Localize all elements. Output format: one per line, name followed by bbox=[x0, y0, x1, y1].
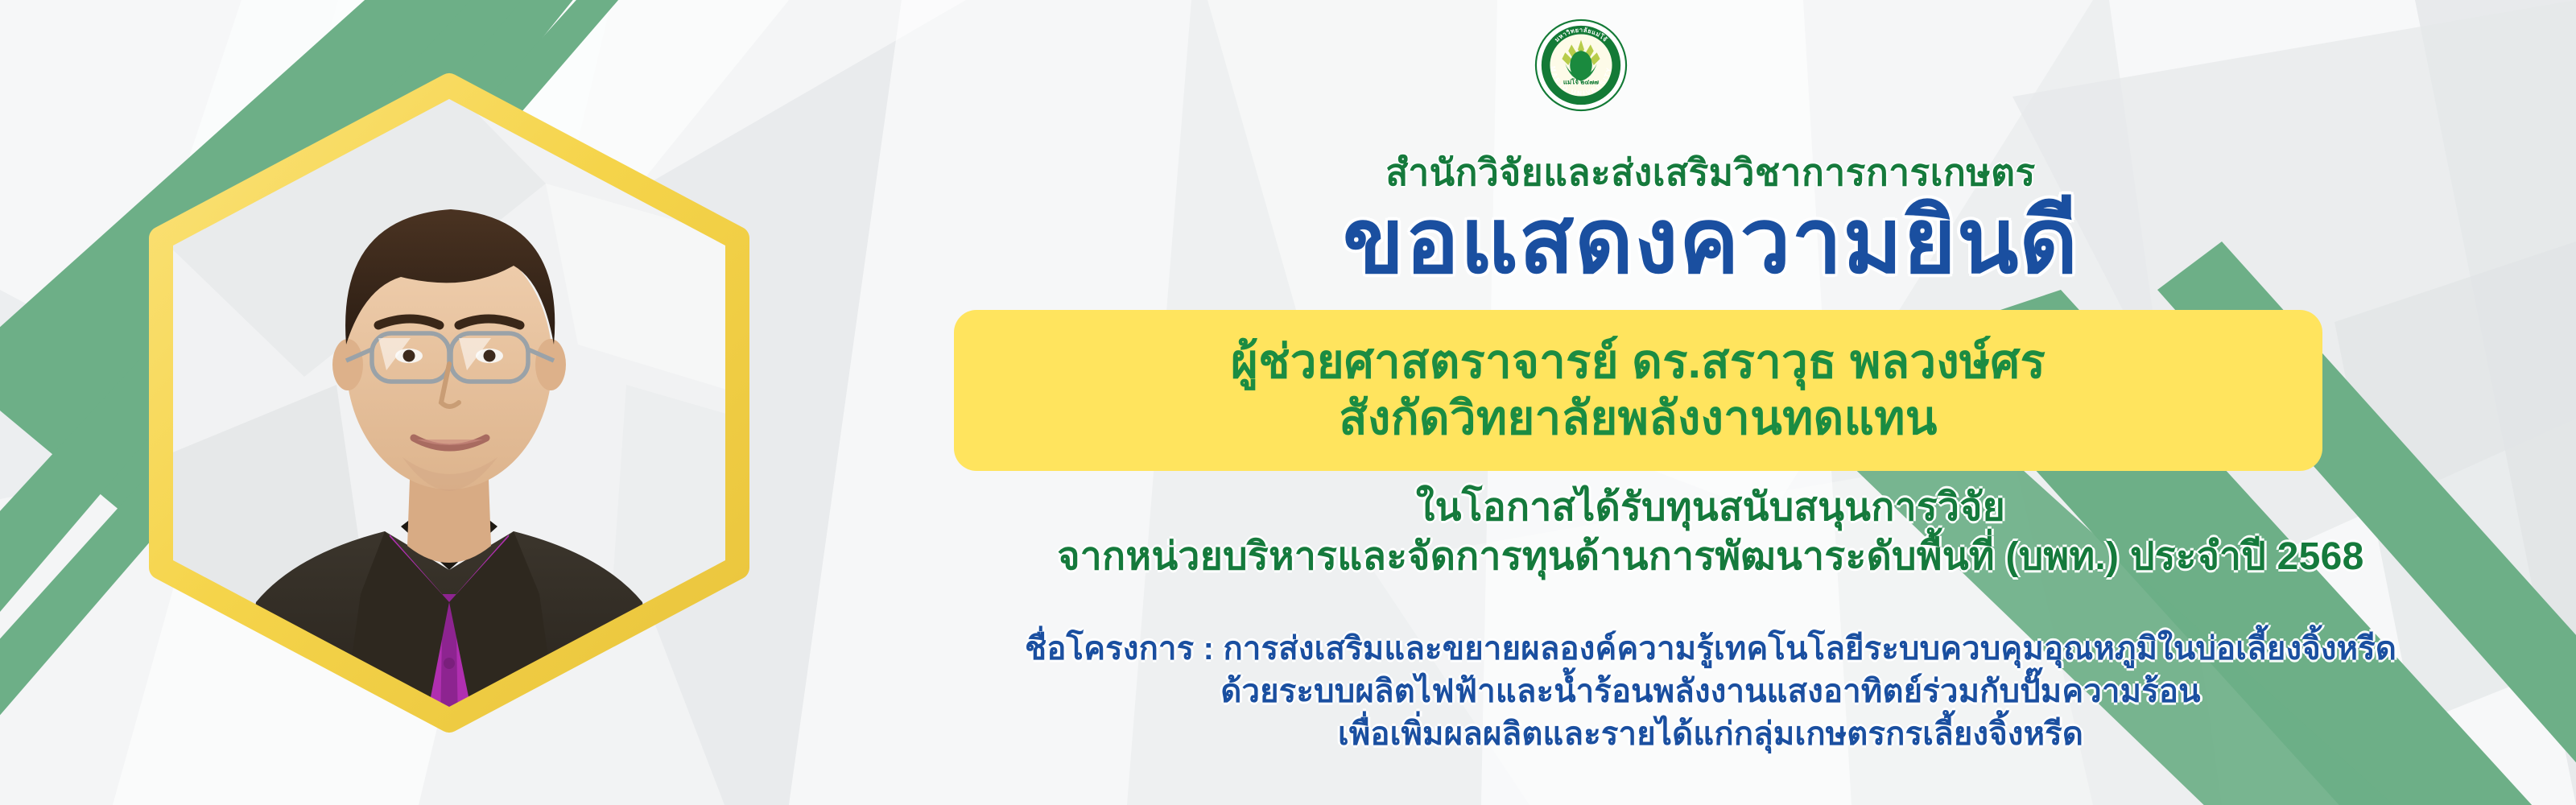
grant-line-1: ในโอกาสได้รับทุนสนับสนุนการวิจัย bbox=[845, 483, 2576, 532]
congratulation-banner: แม่โจ้ ๒๔๗๗ มหาวิทยาลัยแม่โจ้ MAEJO UNIV… bbox=[0, 0, 2576, 805]
honoree-name: ผู้ช่วยศาสตราจารย์ ดร.สราวุธ พลวงษ์ศร bbox=[1231, 335, 2046, 390]
grant-line-2: จากหน่วยบริหารและจัดการทุนด้านการพัฒนาระ… bbox=[845, 532, 2576, 581]
project-line-1: ชื่อโครงการ : การส่งเสริมและขยายผลองค์คว… bbox=[845, 628, 2576, 671]
project-line-3: เพื่อเพิ่มผลผลิตและรายได้แก่กลุ่มเกษตรกร… bbox=[845, 713, 2576, 756]
portrait-frame bbox=[95, 39, 803, 767]
grant-info: ในโอกาสได้รับทุนสนับสนุนการวิจัย จากหน่ว… bbox=[845, 483, 2576, 582]
project-line-2: ด้วยระบบผลิตไฟฟ้าและน้ำร้อนพลังงานแสงอาท… bbox=[845, 671, 2576, 713]
page-title: ขอแสดงความยินดี bbox=[845, 192, 2576, 291]
honoree-affiliation: สังกัดวิทยาลัยพลังงานทดแทน bbox=[1339, 391, 1937, 446]
project-info: ชื่อโครงการ : การส่งเสริมและขยายผลองค์คว… bbox=[845, 628, 2576, 757]
banner-text-column: สำนักวิจัยและส่งเสริมวิชาการการเกษตร ขอแ… bbox=[845, 0, 2576, 805]
honoree-portrait-icon bbox=[95, 39, 803, 767]
honoree-card: ผู้ช่วยศาสตราจารย์ ดร.สราวุธ พลวงษ์ศร สั… bbox=[954, 310, 2322, 471]
